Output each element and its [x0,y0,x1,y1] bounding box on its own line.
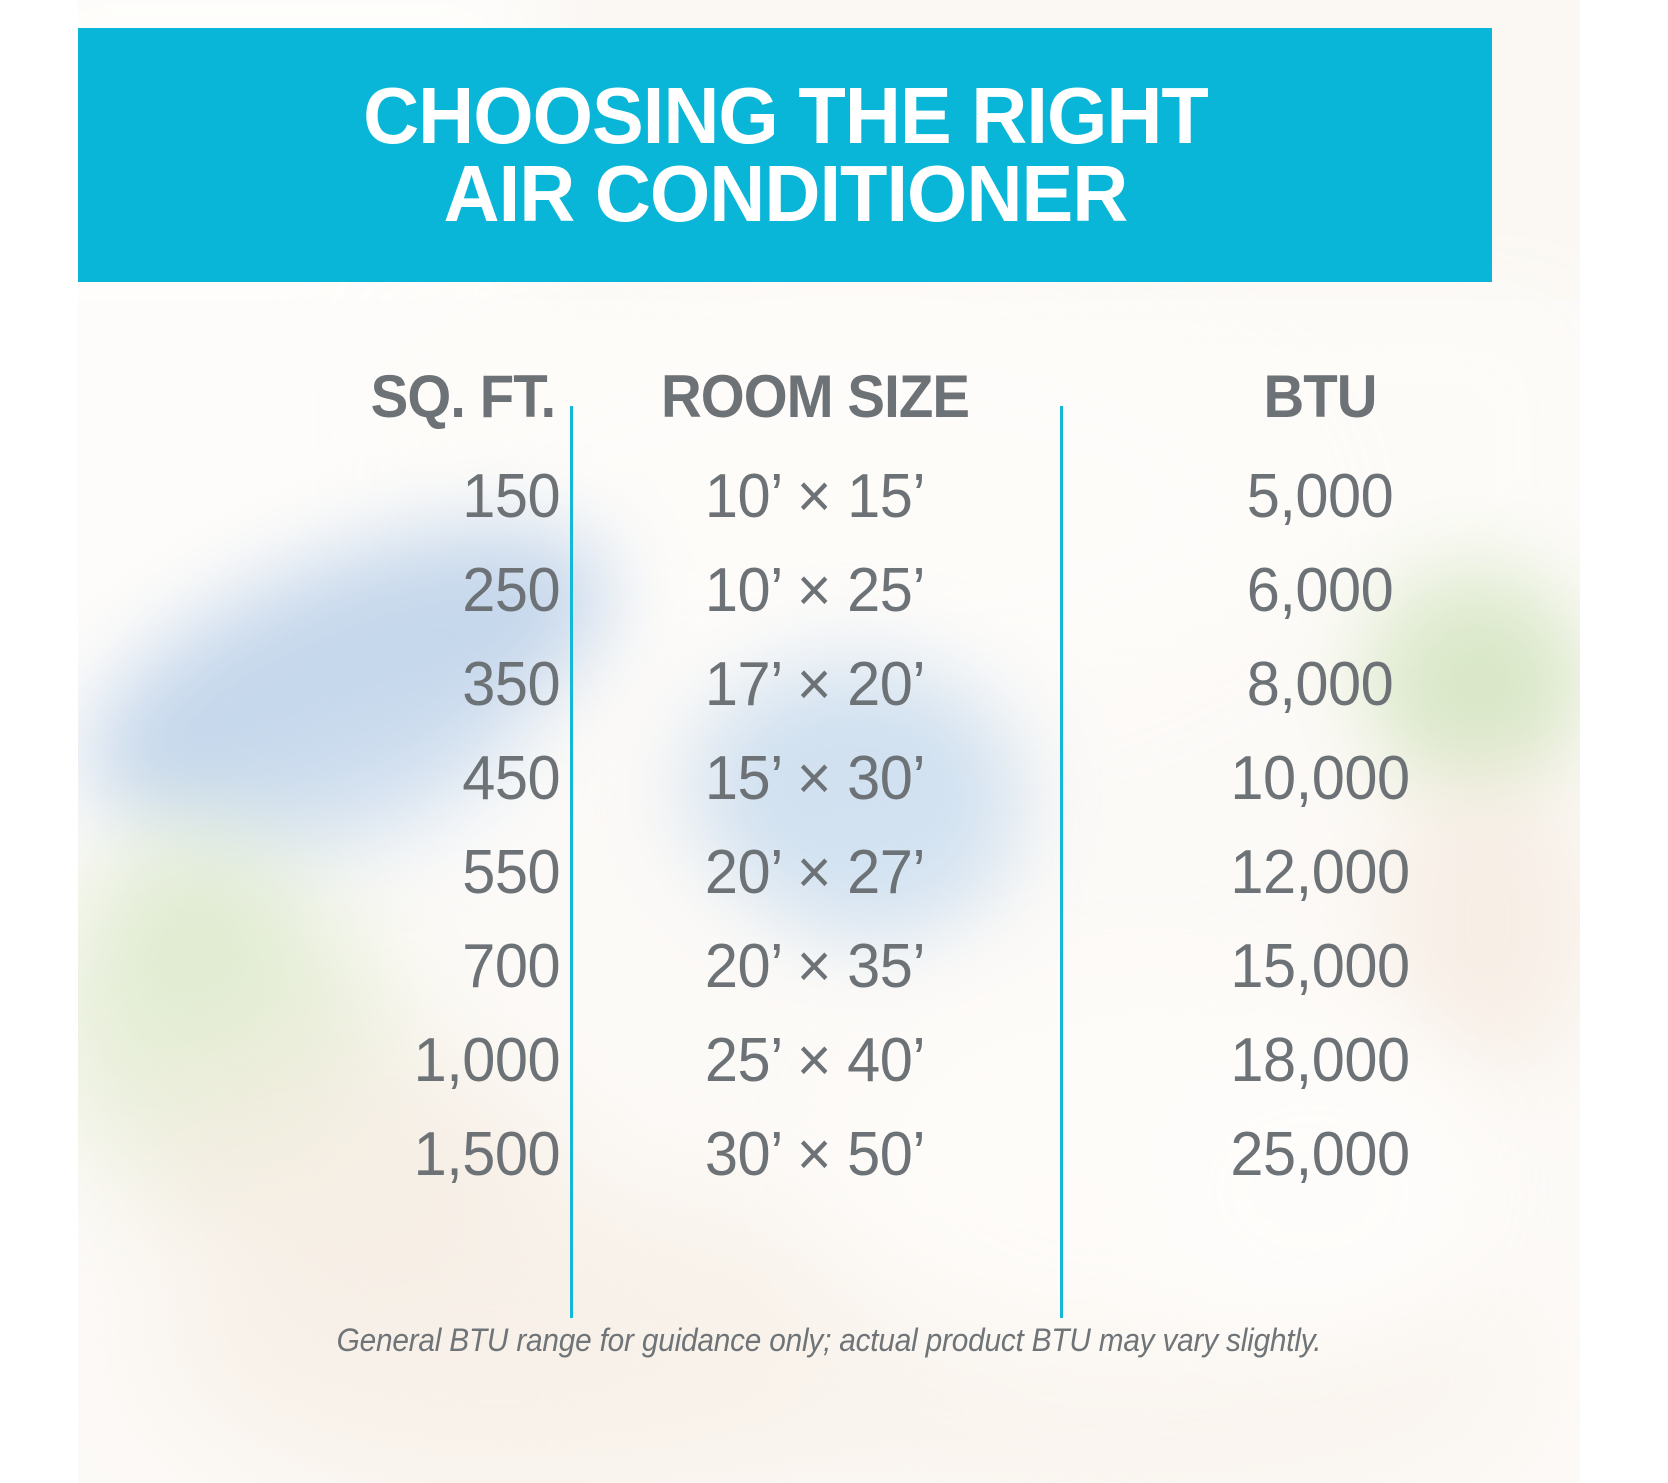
cell-btu: 10,000 [1070,731,1569,825]
cell-sqft: 700 [88,919,560,1013]
cell-sqft: 150 [88,449,560,543]
cell-room-size: 15’ × 30’ [580,731,1050,825]
cell-btu: 18,000 [1070,1013,1569,1107]
cell-room-size: 25’ × 40’ [580,1013,1050,1107]
cell-btu: 8,000 [1070,637,1569,731]
cell-btu: 25,000 [1070,1107,1569,1201]
cell-room-size: 20’ × 27’ [580,825,1050,919]
page-title: CHOOSING THE RIGHT AIR CONDITIONER [334,77,1237,234]
column-header-sqft: SQ. FT. [93,300,555,449]
cell-room-size: 10’ × 15’ [580,449,1050,543]
table-row: 450 15’ × 30’ 10,000 [78,731,1580,825]
table-row: 1,000 25’ × 40’ 18,000 [78,1013,1580,1107]
table-body: 150 10’ × 15’ 5,000 250 10’ × 25’ 6,000 … [78,449,1580,1201]
cell-sqft: 1,500 [88,1107,560,1201]
cell-sqft: 550 [88,825,560,919]
btu-sizing-table: SQ. FT. ROOM SIZE BTU 150 10’ × 15’ 5,00… [78,300,1580,1201]
cell-btu: 12,000 [1070,825,1569,919]
table-header-row: SQ. FT. ROOM SIZE BTU [78,300,1580,449]
table-row: 350 17’ × 20’ 8,000 [78,637,1580,731]
table-row: 550 20’ × 27’ 12,000 [78,825,1580,919]
table-row: 250 10’ × 25’ 6,000 [78,543,1580,637]
cell-sqft: 1,000 [88,1013,560,1107]
cell-btu: 5,000 [1070,449,1569,543]
cell-btu: 6,000 [1070,543,1569,637]
infographic-canvas: CHOOSING THE RIGHT AIR CONDITIONER SQ. F… [0,0,1668,1483]
column-header-btu: BTU [1076,300,1565,449]
footnote-disclaimer: General BTU range for guidance only; act… [131,1322,1528,1359]
cell-sqft: 450 [88,731,560,825]
cell-room-size: 30’ × 50’ [580,1107,1050,1201]
column-header-room-size: ROOM SIZE [585,300,1046,449]
table-row: 150 10’ × 15’ 5,000 [78,449,1580,543]
header-banner: CHOOSING THE RIGHT AIR CONDITIONER [78,28,1492,282]
table-row: 700 20’ × 35’ 15,000 [78,919,1580,1013]
cell-room-size: 20’ × 35’ [580,919,1050,1013]
table-row: 1,500 30’ × 50’ 25,000 [78,1107,1580,1201]
cell-sqft: 250 [88,543,560,637]
cell-btu: 15,000 [1070,919,1569,1013]
cell-room-size: 10’ × 25’ [580,543,1050,637]
btu-table-container: SQ. FT. ROOM SIZE BTU 150 10’ × 15’ 5,00… [78,300,1580,1483]
cell-room-size: 17’ × 20’ [580,637,1050,731]
cell-sqft: 350 [88,637,560,731]
